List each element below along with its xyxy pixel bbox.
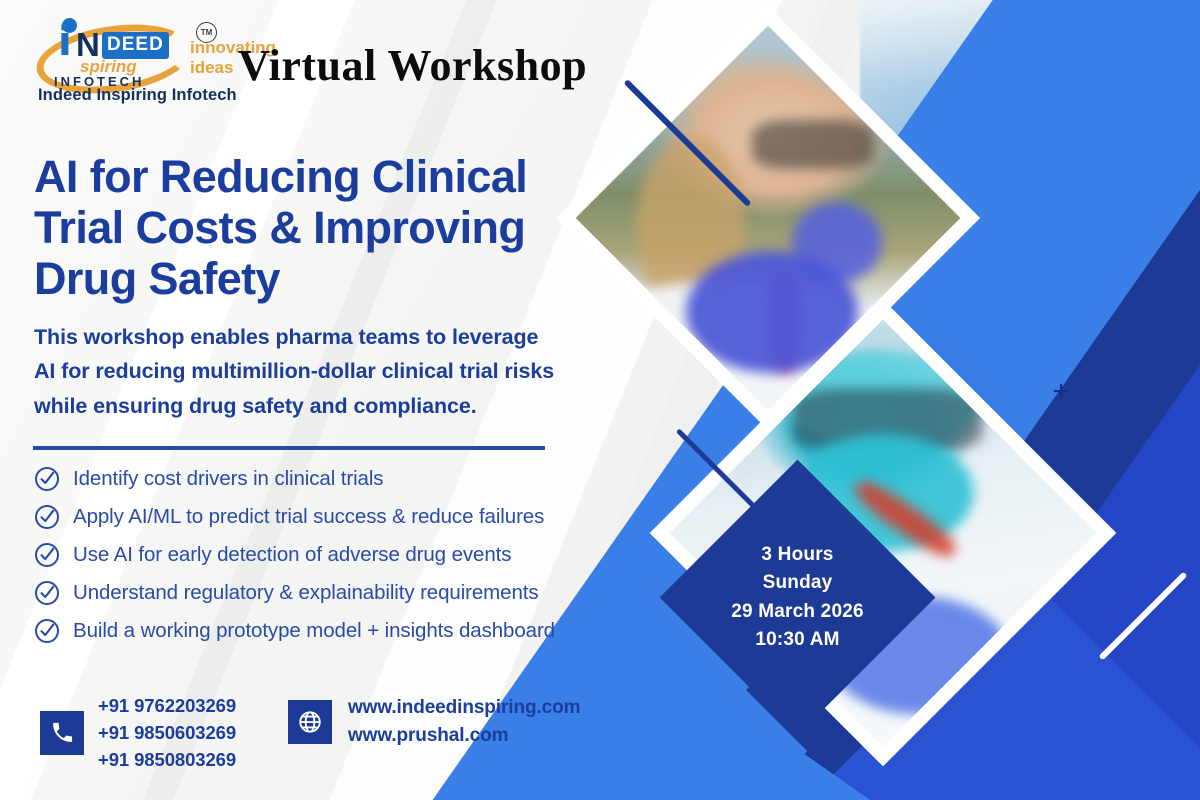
list-item-label: Identify cost drivers in clinical trials	[73, 468, 383, 491]
globe-icon	[288, 700, 332, 744]
phone-number: +91 9850803269	[98, 746, 236, 773]
check-circle-icon	[34, 580, 60, 606]
logo-mark-icon: i N DEED spiring INFOTECH	[34, 16, 184, 92]
check-circle-icon	[34, 466, 60, 492]
check-circle-icon	[34, 618, 60, 644]
list-item: Apply AI/ML to predict trial success & r…	[34, 504, 664, 530]
section-divider	[33, 446, 545, 450]
phone-icon	[40, 711, 84, 755]
check-circle-icon	[34, 542, 60, 568]
badge-day: Sunday	[763, 569, 833, 597]
photo-detail	[752, 120, 874, 169]
badge-duration: 3 Hours	[761, 541, 833, 569]
badge-time: 10:30 AM	[755, 626, 839, 654]
website-url[interactable]: www.prushal.com	[348, 722, 580, 750]
workshop-kicker: Virtual Workshop	[238, 40, 587, 91]
logo-deed-badge: DEED	[102, 32, 169, 59]
main-content: i N DEED spiring INFOTECH innovating ide…	[0, 0, 680, 800]
list-item: Understand regulatory & explainability r…	[34, 580, 664, 606]
phone-numbers: +91 9762203269 +91 9850603269 +91 985080…	[98, 692, 236, 773]
list-item-label: Build a working prototype model + insigh…	[73, 620, 555, 643]
list-item: Use AI for early detection of adverse dr…	[34, 542, 664, 568]
workshop-description: This workshop enables pharma teams to le…	[34, 320, 562, 424]
list-item-label: Apply AI/ML to predict trial success & r…	[73, 506, 544, 529]
page-title: AI for Reducing Clinical Trial Costs & I…	[34, 152, 574, 305]
trademark-icon: TM	[196, 22, 217, 43]
website-url[interactable]: www.indeedinspiring.com	[348, 694, 580, 722]
company-name: Indeed Inspiring Infotech	[38, 86, 237, 105]
brand-logo[interactable]: i N DEED spiring INFOTECH innovating ide…	[34, 16, 272, 92]
contact-website-block[interactable]: www.indeedinspiring.com www.prushal.com	[288, 694, 580, 749]
list-item-label: Understand regulatory & explainability r…	[73, 582, 539, 605]
badge-date: 29 March 2026	[731, 598, 864, 626]
plus-decor-icon: +	[1047, 378, 1075, 406]
website-urls: www.indeedinspiring.com www.prushal.com	[348, 694, 580, 749]
phone-number: +91 9850603269	[98, 719, 236, 746]
list-item: Identify cost drivers in clinical trials	[34, 466, 664, 492]
list-item: Build a working prototype model + insigh…	[34, 618, 664, 644]
check-circle-icon	[34, 504, 60, 530]
list-item-label: Use AI for early detection of adverse dr…	[73, 544, 511, 567]
logo-letter-i: i	[58, 22, 72, 62]
contact-phone-block[interactable]: +91 9762203269 +91 9850603269 +91 985080…	[40, 692, 236, 773]
phone-number: +91 9762203269	[98, 692, 236, 719]
event-badge: 3 Hours Sunday 29 March 2026 10:30 AM	[700, 500, 895, 695]
poster-canvas: + 3 Hours Sunday 29 March 2026 10:30 AM …	[0, 0, 1200, 800]
learning-outcomes-list: Identify cost drivers in clinical trials…	[34, 466, 664, 656]
